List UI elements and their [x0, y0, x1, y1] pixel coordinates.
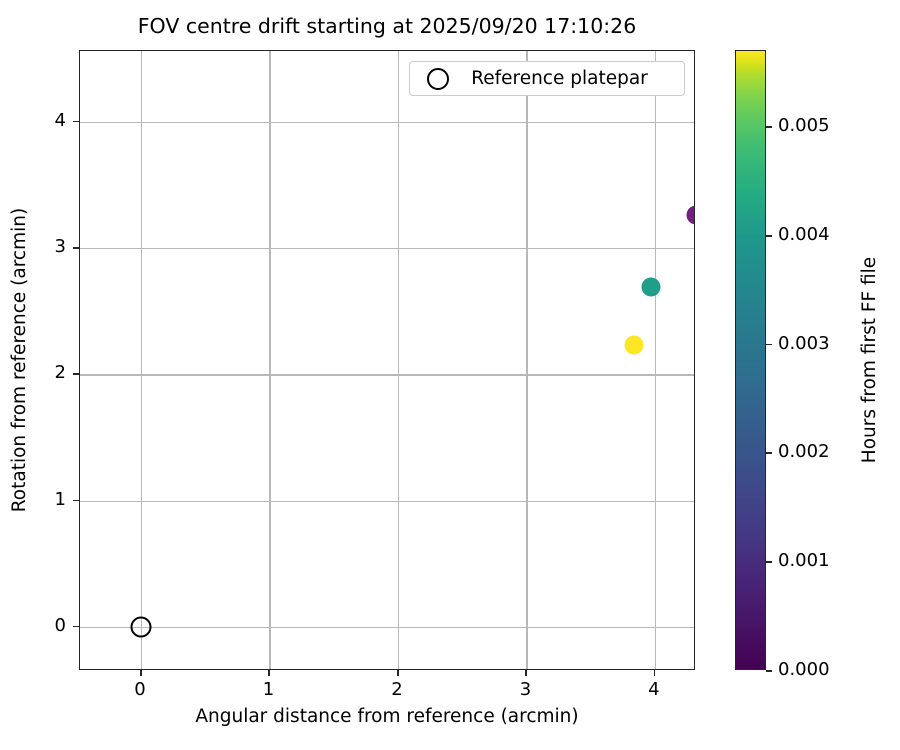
colorbar[interactable]: [735, 50, 766, 670]
x-tick-label: 0: [120, 679, 160, 701]
x-axis-label: Angular distance from reference (arcmin): [79, 706, 695, 728]
x-tick-label: 3: [505, 679, 545, 701]
y-tick-mark: [73, 247, 79, 249]
colorbar-tick-mark: [766, 561, 772, 563]
colorbar-tick-label: 0.002: [778, 441, 858, 463]
colorbar-tick-label: 0.000: [778, 659, 858, 681]
x-tick-label: 2: [377, 679, 417, 701]
reference-platepar-marker: [131, 616, 152, 637]
gridline-horizontal: [80, 501, 694, 502]
gridline-horizontal: [80, 374, 694, 375]
gridline-horizontal: [80, 122, 694, 123]
x-tick-mark: [140, 670, 142, 676]
data-point: [642, 278, 661, 297]
data-point: [687, 206, 696, 225]
colorbar-tick-mark: [766, 452, 772, 454]
y-tick-mark: [73, 121, 79, 123]
colorbar-tick-label: 0.003: [778, 333, 858, 355]
colorbar-tick-mark: [766, 344, 772, 346]
page-title: FOV centre drift starting at 2025/09/20 …: [79, 14, 695, 38]
x-tick-mark: [525, 670, 527, 676]
figure-canvas: FOV centre drift starting at 2025/09/20 …: [0, 0, 900, 750]
colorbar-tick-label: 0.005: [778, 115, 858, 137]
gridline-vertical: [526, 51, 527, 669]
legend[interactable]: Reference platepar: [409, 61, 685, 96]
plot-axes[interactable]: [79, 50, 695, 670]
colorbar-tick-label: 0.004: [778, 224, 858, 246]
x-tick-label: 4: [634, 679, 674, 701]
y-tick-mark: [73, 373, 79, 375]
y-axis-label: Rotation from reference (arcmin): [9, 50, 31, 670]
y-tick-mark: [73, 500, 79, 502]
x-tick-label: 1: [248, 679, 288, 701]
gridline-horizontal: [80, 627, 694, 628]
colorbar-tick-label: 0.001: [778, 550, 858, 572]
colorbar-tick-mark: [766, 670, 772, 672]
colorbar-gradient: [735, 50, 766, 670]
colorbar-label: Hours from first FF file: [859, 50, 881, 670]
colorbar-tick-mark: [766, 235, 772, 237]
gridline-vertical: [269, 51, 270, 669]
x-tick-mark: [654, 670, 656, 676]
gridline-vertical: [655, 51, 656, 669]
gridline-vertical: [141, 51, 142, 669]
x-tick-mark: [397, 670, 399, 676]
data-point: [625, 336, 644, 355]
x-tick-mark: [268, 670, 270, 676]
y-tick-mark: [73, 626, 79, 628]
legend-marker-open-circle-icon: [427, 68, 449, 90]
legend-item-label: Reference platepar: [449, 68, 684, 90]
colorbar-tick-mark: [766, 126, 772, 128]
gridline-vertical: [398, 51, 399, 669]
gridline-horizontal: [80, 248, 694, 249]
